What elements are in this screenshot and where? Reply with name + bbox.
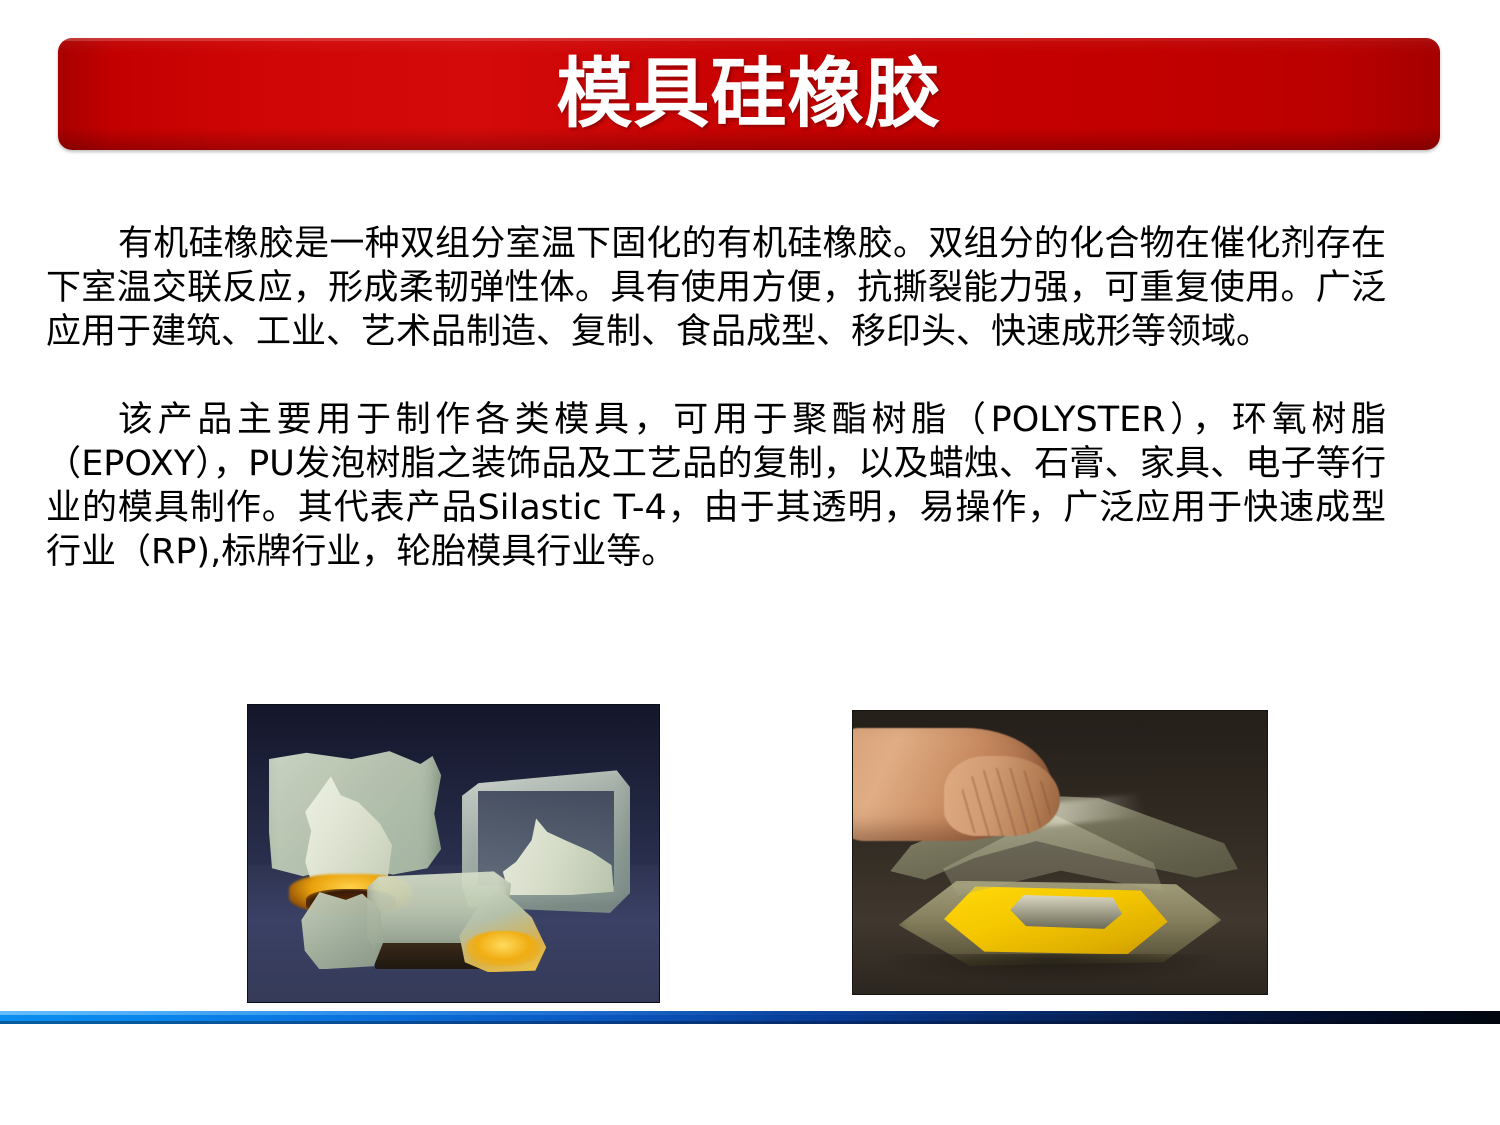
front-left-mold-piece xyxy=(301,892,383,969)
paragraph-applications: 该产品主要用于制作各类模具，可用于聚酯树脂（POLYSTER），环氧树脂（EPO… xyxy=(46,398,1386,574)
footer-accent-bar xyxy=(0,1011,1500,1024)
title-banner: 模具硅橡胶 xyxy=(58,38,1440,150)
body-copy: 有机硅橡胶是一种双组分室温下固化的有机硅橡胶。双组分的化合物在催化剂存在下室温交… xyxy=(46,222,1386,574)
photo-shadow xyxy=(886,954,1217,982)
page-title: 模具硅橡胶 xyxy=(58,56,1440,132)
finger-detail-lines xyxy=(961,768,1052,836)
paragraph-intro: 有机硅橡胶是一种双组分室温下固化的有机硅橡胶。双组分的化合物在催化剂存在下室温交… xyxy=(46,222,1386,354)
translucent-silicone-molds-photo xyxy=(247,704,660,1003)
amber-glow-right xyxy=(466,931,540,967)
hand-peeling-silicone-mold-photo xyxy=(852,710,1268,995)
yellow-part-recess xyxy=(1010,895,1122,929)
